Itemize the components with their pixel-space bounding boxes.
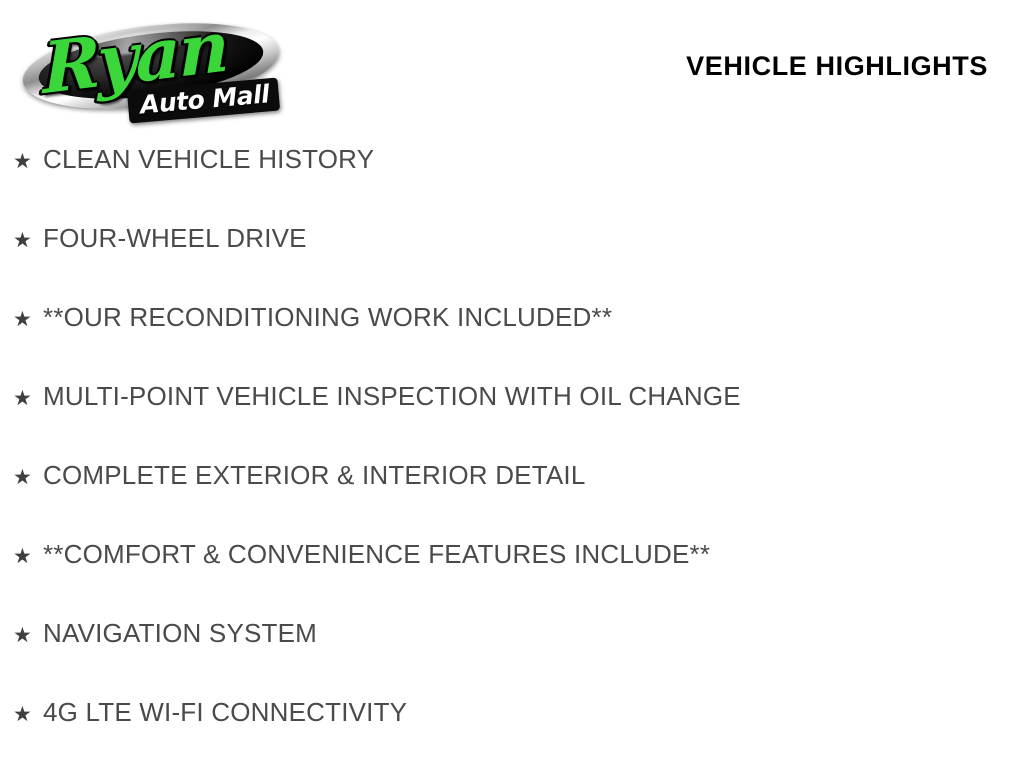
list-item: ★ **COMFORT & CONVENIENCE FEATURES INCLU…	[0, 539, 1024, 618]
highlight-label: FOUR-WHEEL DRIVE	[43, 223, 1024, 253]
page-title: VEHICLE HIGHLIGHTS	[686, 50, 988, 82]
list-item: ★ 4G LTE WI-FI CONNECTIVITY	[0, 697, 1024, 776]
list-item: ★ FOUR-WHEEL DRIVE	[0, 223, 1024, 302]
highlight-label: **OUR RECONDITIONING WORK INCLUDED**	[43, 302, 1024, 332]
star-icon: ★	[13, 701, 43, 727]
highlight-label: 4G LTE WI-FI CONNECTIVITY	[43, 697, 1024, 727]
list-item: ★ MULTI-POINT VEHICLE INSPECTION WITH OI…	[0, 381, 1024, 460]
list-item: ★ NAVIGATION SYSTEM	[0, 618, 1024, 697]
star-icon: ★	[13, 622, 43, 648]
list-item: ★ **OUR RECONDITIONING WORK INCLUDED**	[0, 302, 1024, 381]
highlight-label: COMPLETE EXTERIOR & INTERIOR DETAIL	[43, 460, 1024, 490]
highlight-label: CLEAN VEHICLE HISTORY	[43, 144, 1024, 174]
star-icon: ★	[13, 306, 43, 332]
vehicle-highlights-list: ★ CLEAN VEHICLE HISTORY ★ FOUR-WHEEL DRI…	[0, 144, 1024, 776]
dealer-logo[interactable]: Ryan Auto Mall	[16, 12, 288, 118]
star-icon: ★	[13, 227, 43, 253]
vehicle-highlights-page: Ryan Auto Mall VEHICLE HIGHLIGHTS ★ CLEA…	[0, 0, 1024, 768]
star-icon: ★	[13, 543, 43, 569]
list-item: ★ CLEAN VEHICLE HISTORY	[0, 144, 1024, 223]
page-header: Ryan Auto Mall VEHICLE HIGHLIGHTS	[0, 0, 1024, 130]
star-icon: ★	[13, 385, 43, 411]
highlight-label: NAVIGATION SYSTEM	[43, 618, 1024, 648]
star-icon: ★	[13, 148, 43, 174]
star-icon: ★	[13, 464, 43, 490]
list-item: ★ COMPLETE EXTERIOR & INTERIOR DETAIL	[0, 460, 1024, 539]
highlight-label: **COMFORT & CONVENIENCE FEATURES INCLUDE…	[43, 539, 1024, 569]
highlight-label: MULTI-POINT VEHICLE INSPECTION WITH OIL …	[43, 381, 1024, 411]
